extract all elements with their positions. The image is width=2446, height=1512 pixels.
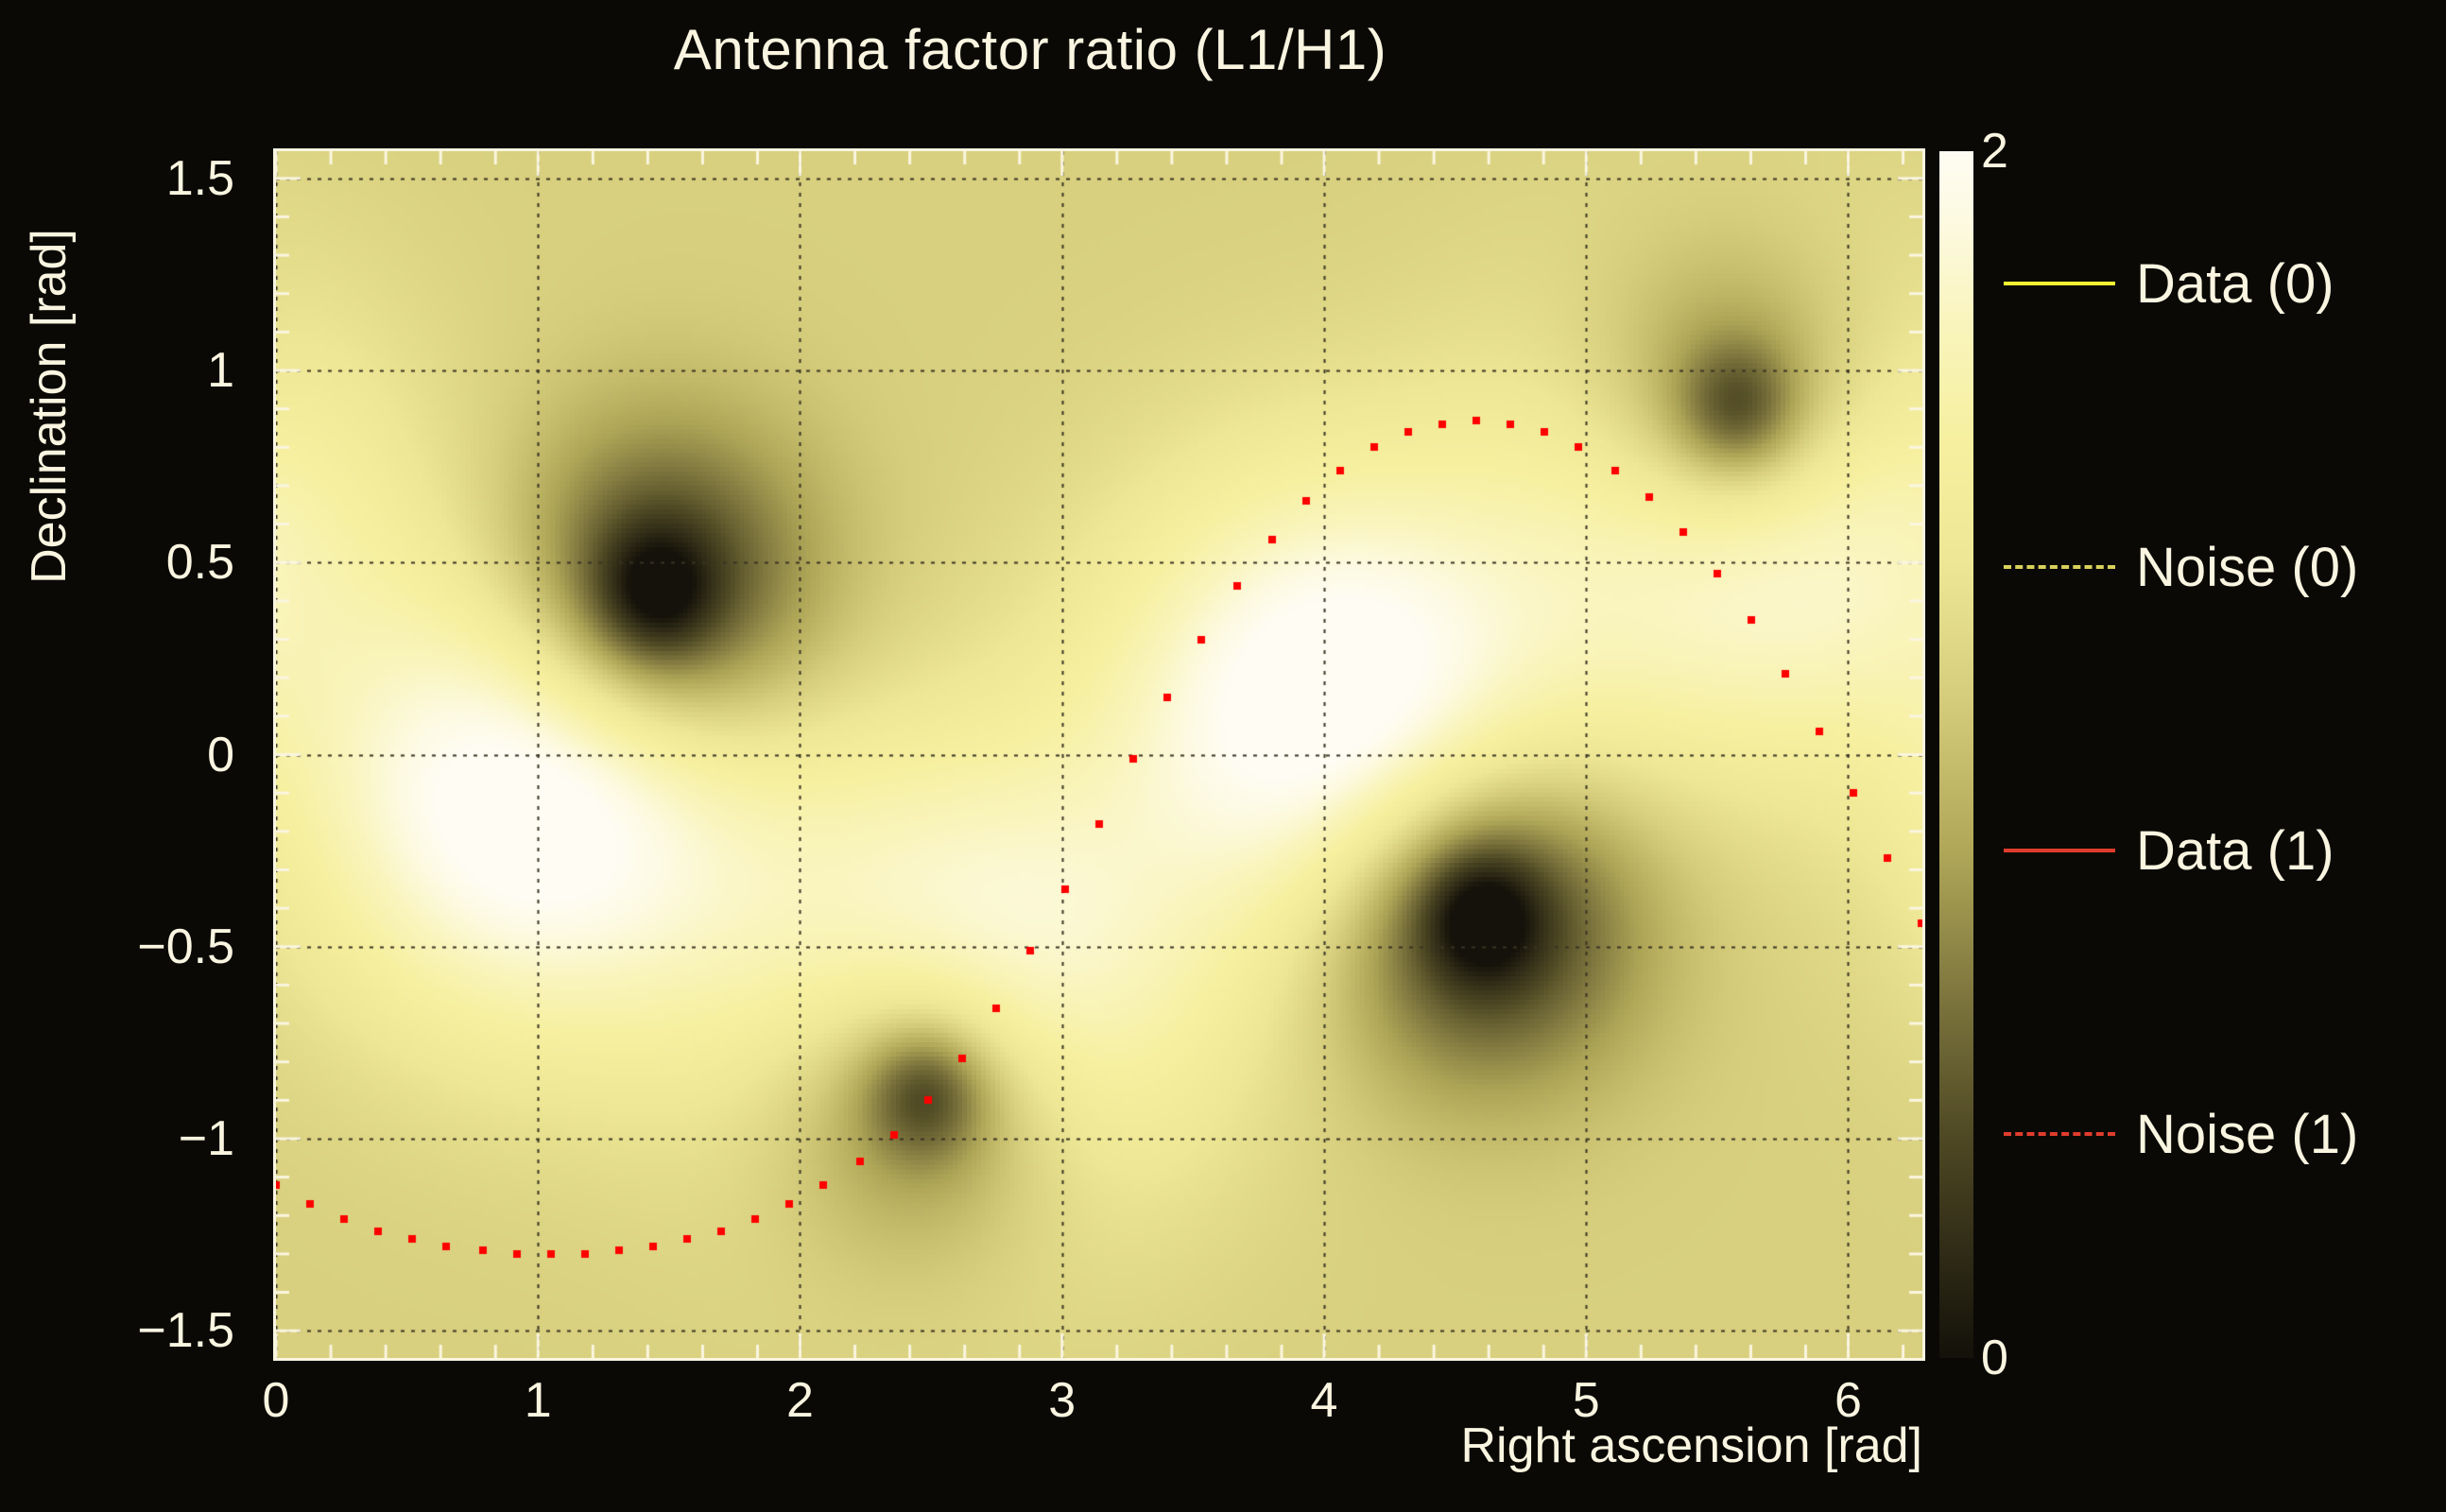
y-tick-label: 1 bbox=[207, 342, 255, 399]
legend-item-label: Data (1) bbox=[2136, 819, 2334, 883]
y-tick-label: −1.5 bbox=[137, 1302, 255, 1359]
y-tick-label: −0.5 bbox=[137, 919, 255, 975]
legend-item-label: Noise (0) bbox=[2136, 536, 2358, 599]
plot-canvas-root: Antenna factor ratio (L1/H1) 1.510.50−0.… bbox=[0, 0, 2446, 1512]
x-axis-title: Right ascension [rad] bbox=[276, 1417, 1922, 1474]
y-tick-label: −1 bbox=[179, 1110, 255, 1167]
legend-item[interactable]: Noise (1) bbox=[2004, 1096, 2438, 1172]
y-tick-label: 0 bbox=[207, 727, 255, 783]
heatmap-frame bbox=[276, 151, 1922, 1358]
legend-line-swatch bbox=[2004, 282, 2115, 285]
legend-line-swatch bbox=[2004, 849, 2115, 852]
colorbar-tick-label: 0 bbox=[1981, 1330, 2008, 1386]
legend-item-label: Noise (1) bbox=[2136, 1103, 2358, 1166]
legend: Data (0)Noise (0)Data (1)Noise (1) bbox=[2004, 189, 2438, 1323]
legend-item[interactable]: Noise (0) bbox=[2004, 529, 2438, 605]
legend-item[interactable]: Data (0) bbox=[2004, 246, 2438, 321]
y-tick-label: 0.5 bbox=[166, 534, 255, 591]
legend-item-label: Data (0) bbox=[2136, 252, 2334, 316]
legend-line-swatch bbox=[2004, 1132, 2115, 1136]
legend-item[interactable]: Data (1) bbox=[2004, 813, 2438, 888]
y-tick-label: 1.5 bbox=[166, 150, 255, 207]
y-axis-title: Declination [rad] bbox=[21, 113, 78, 699]
colorbar bbox=[1939, 151, 1973, 1358]
heatmap-image bbox=[276, 151, 1922, 1358]
legend-line-swatch bbox=[2004, 565, 2115, 569]
page-title: Antenna factor ratio (L1/H1) bbox=[0, 17, 2060, 82]
colorbar-tick-label: 2 bbox=[1981, 123, 2008, 180]
